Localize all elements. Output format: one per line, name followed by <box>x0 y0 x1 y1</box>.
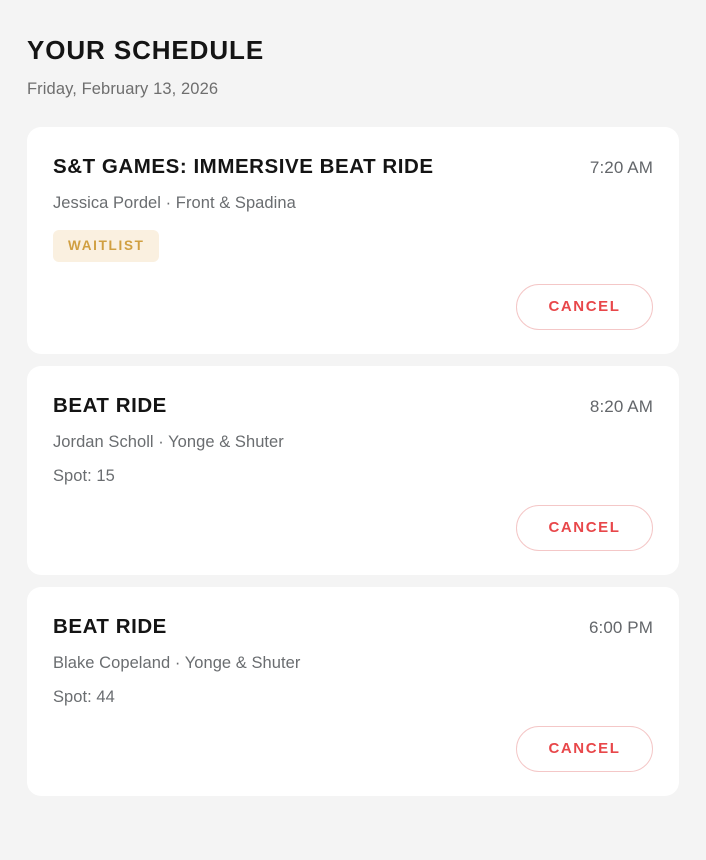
schedule-page: YOUR SCHEDULE Friday, February 13, 2026 … <box>0 0 706 860</box>
booking-card-actions: CANCEL <box>53 284 653 330</box>
page-title: YOUR SCHEDULE <box>27 34 679 66</box>
cancel-button[interactable]: CANCEL <box>516 284 653 330</box>
class-name: S&T GAMES: IMMERSIVE BEAT RIDE <box>53 154 434 180</box>
spot-number: Spot: 44 <box>53 686 653 708</box>
booking-card-header: BEAT RIDE 6:00 PM <box>53 614 653 640</box>
class-time: 7:20 AM <box>590 156 653 180</box>
booking-card-actions: CANCEL <box>53 505 653 551</box>
booking-card[interactable]: BEAT RIDE 6:00 PM Blake Copeland · Yonge… <box>27 587 679 796</box>
schedule-date: Friday, February 13, 2026 <box>27 78 679 100</box>
class-time: 6:00 PM <box>589 616 653 640</box>
booking-card[interactable]: S&T GAMES: IMMERSIVE BEAT RIDE 7:20 AM J… <box>27 127 679 354</box>
class-time: 8:20 AM <box>590 395 653 419</box>
booking-card-header: S&T GAMES: IMMERSIVE BEAT RIDE 7:20 AM <box>53 154 653 180</box>
spot-number: Spot: 15 <box>53 465 653 487</box>
class-instructor-location: Blake Copeland · Yonge & Shuter <box>53 652 653 674</box>
status-badge: WAITLIST <box>53 230 159 262</box>
class-name: BEAT RIDE <box>53 614 167 640</box>
class-instructor-location: Jessica Pordel · Front & Spadina <box>53 192 653 214</box>
booking-card[interactable]: BEAT RIDE 8:20 AM Jordan Scholl · Yonge … <box>27 366 679 575</box>
booking-card-actions: CANCEL <box>53 726 653 772</box>
cancel-button[interactable]: CANCEL <box>516 726 653 772</box>
page-header: YOUR SCHEDULE Friday, February 13, 2026 <box>0 0 706 100</box>
booking-card-header: BEAT RIDE 8:20 AM <box>53 393 653 419</box>
booking-card-list: S&T GAMES: IMMERSIVE BEAT RIDE 7:20 AM J… <box>0 127 706 796</box>
cancel-button[interactable]: CANCEL <box>516 505 653 551</box>
class-instructor-location: Jordan Scholl · Yonge & Shuter <box>53 431 653 453</box>
class-name: BEAT RIDE <box>53 393 167 419</box>
